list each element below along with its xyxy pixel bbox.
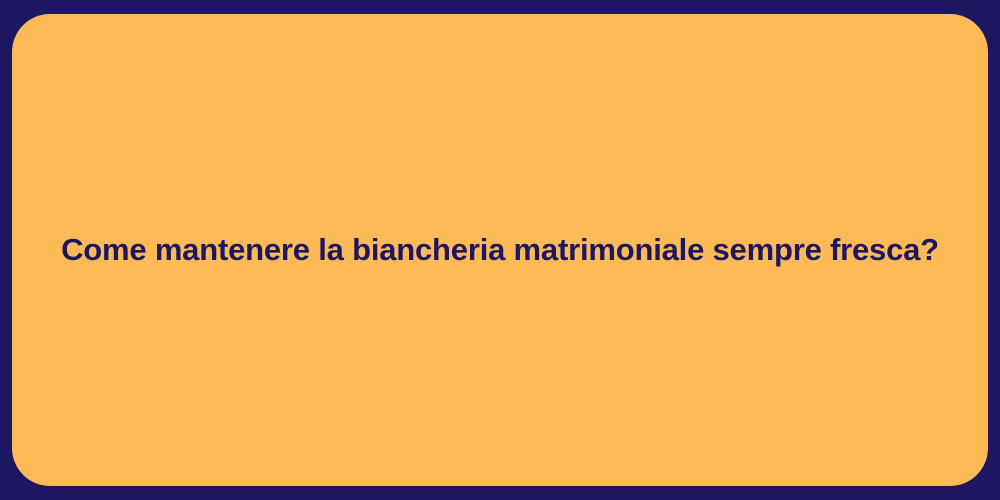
banner-card: Come mantenere la biancheria matrimonial… bbox=[12, 14, 988, 486]
page-title: Come mantenere la biancheria matrimonial… bbox=[12, 231, 988, 270]
banner-frame: Come mantenere la biancheria matrimonial… bbox=[0, 0, 1000, 500]
